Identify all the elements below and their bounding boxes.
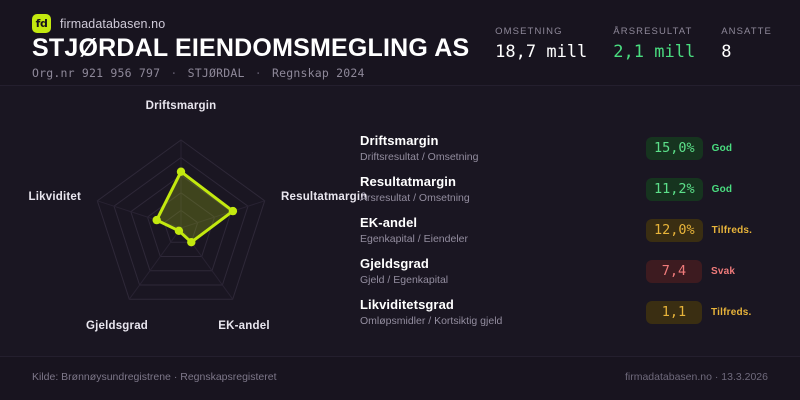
kpi-label: ANSATTE — [721, 26, 772, 37]
radar-axis-label-gjeldsgrad: Gjeldsgrad — [86, 320, 148, 332]
metric-name: EK-andel — [360, 215, 646, 231]
meta-separator-2: · — [252, 66, 265, 80]
radar-axis-spoke — [129, 228, 181, 299]
status-badge: Tilfreds. — [712, 225, 753, 236]
metric-text: Gjeldsgrad Gjeld / Egenkapital — [360, 256, 646, 287]
kpi-value: 2,1 mill — [613, 42, 695, 62]
kpi-ansatte: ANSATTE 8 — [721, 26, 772, 62]
company-meta: Org.nr 921 956 797 · STJØRDAL · Regnskap… — [32, 66, 365, 80]
radar-axis-label-ek-andel: EK-andel — [218, 320, 269, 332]
kpi-label: OMSETNING — [495, 26, 587, 37]
radar-axis-label-driftsmargin: Driftsmargin — [146, 100, 217, 112]
kpi-omsetning: OMSETNING 18,7 mill — [495, 26, 587, 62]
kpi-arsresultat: ÅRSRESULTAT 2,1 mill — [613, 26, 695, 62]
metric-name: Driftsmargin — [360, 133, 646, 149]
firmadatabasen-logo-icon: fd — [32, 14, 51, 33]
metric-formula: Gjeld / Egenkapital — [360, 273, 646, 287]
kpi-value: 18,7 mill — [495, 42, 587, 62]
metric-formula: Egenkapital / Eiendeler — [360, 232, 646, 246]
metric-value-pill: 1,1 — [646, 301, 702, 324]
metric-right: 11,2% God — [646, 178, 778, 201]
org-number: Org.nr 921 956 797 — [32, 66, 160, 80]
metric-text: Driftsmargin Driftsresultat / Omsetning — [360, 133, 646, 164]
metric-row-resultatmargin[interactable]: Resultatmargin Årsresultat / Omsetning 1… — [360, 169, 778, 210]
radar-data-point — [229, 207, 237, 215]
status-badge: Tilfreds. — [711, 307, 752, 318]
metrics-list: Driftsmargin Driftsresultat / Omsetning … — [360, 128, 778, 333]
footer: Kilde: Brønnøysundregistrene · Regnskaps… — [0, 356, 800, 400]
metric-value-pill: 7,4 — [646, 260, 702, 283]
metric-text: EK-andel Egenkapital / Eiendeler — [360, 215, 646, 246]
metric-formula: Driftsresultat / Omsetning — [360, 150, 646, 164]
metric-text: Likviditetsgrad Omløpsmidler / Kortsikti… — [360, 297, 646, 328]
footer-source: Kilde: Brønnøysundregistrene · Regnskaps… — [32, 371, 277, 383]
metric-formula: Omløpsmidler / Kortsiktig gjeld — [360, 314, 646, 328]
metric-right: 12,0% Tilfreds. — [646, 219, 778, 242]
status-badge: Svak — [711, 266, 735, 277]
metric-name: Likviditetsgrad — [360, 297, 646, 313]
metric-value-pill: 11,2% — [646, 178, 703, 201]
metric-right: 1,1 Tilfreds. — [646, 301, 778, 324]
kpi-label: ÅRSRESULTAT — [613, 26, 695, 37]
company-report-card: fd firmadatabasen.no STJØRDAL EIENDOMSME… — [0, 0, 800, 400]
page-title: STJØRDAL EIENDOMSMEGLING AS — [32, 34, 469, 63]
radar-data-point — [153, 216, 161, 224]
brand[interactable]: fd firmadatabasen.no — [32, 14, 165, 33]
meta-separator-1: · — [167, 66, 180, 80]
radar-series-area — [157, 172, 233, 243]
metric-name: Gjeldsgrad — [360, 256, 646, 272]
brand-name: firmadatabasen.no — [60, 17, 165, 31]
radar-chart: Driftsmargin Resultatmargin EK-andel Gje… — [0, 86, 350, 354]
radar-data-point — [175, 227, 183, 235]
metric-row-gjeldsgrad[interactable]: Gjeldsgrad Gjeld / Egenkapital 7,4 Svak — [360, 251, 778, 292]
company-city: STJØRDAL — [188, 66, 245, 80]
footer-site-date: firmadatabasen.no · 13.3.2026 — [625, 371, 768, 383]
metric-name: Resultatmargin — [360, 174, 646, 190]
radar-axis-label-likviditet: Likviditet — [29, 191, 81, 203]
metric-text: Resultatmargin Årsresultat / Omsetning — [360, 174, 646, 205]
status-badge: God — [712, 143, 733, 154]
kpi-strip: OMSETNING 18,7 mill ÅRSRESULTAT 2,1 mill… — [495, 26, 772, 62]
metric-value-pill: 12,0% — [646, 219, 703, 242]
status-badge: God — [712, 184, 733, 195]
metric-formula: Årsresultat / Omsetning — [360, 191, 646, 205]
radar-chart-svg — [0, 86, 350, 354]
metric-right: 7,4 Svak — [646, 260, 778, 283]
kpi-value: 8 — [721, 42, 772, 62]
metric-value-pill: 15,0% — [646, 137, 703, 160]
metric-row-likviditetsgrad[interactable]: Likviditetsgrad Omløpsmidler / Kortsikti… — [360, 292, 778, 333]
accounting-year: Regnskap 2024 — [272, 66, 365, 80]
metric-right: 15,0% God — [646, 137, 778, 160]
radar-data-point — [177, 168, 185, 176]
radar-data-point — [187, 238, 195, 246]
metric-row-ek-andel[interactable]: EK-andel Egenkapital / Eiendeler 12,0% T… — [360, 210, 778, 251]
header: fd firmadatabasen.no STJØRDAL EIENDOMSME… — [0, 0, 800, 86]
radar-axis-label-resultatmargin: Resultatmargin — [281, 191, 368, 203]
metric-row-driftsmargin[interactable]: Driftsmargin Driftsresultat / Omsetning … — [360, 128, 778, 169]
